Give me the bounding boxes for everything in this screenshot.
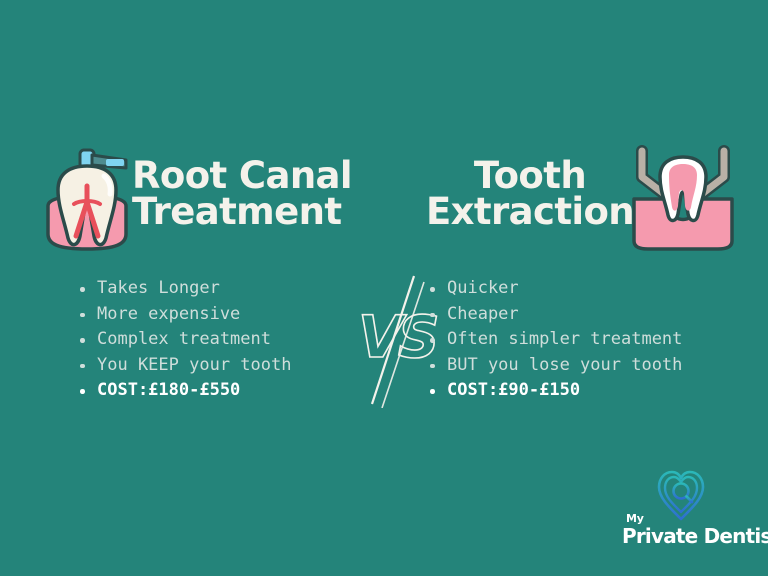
cost-item: COST:£180-£550 bbox=[78, 378, 291, 404]
tooth-extraction-title: Tooth Extraction bbox=[420, 158, 640, 230]
logo-brand-name: Private Dentist bbox=[622, 524, 768, 548]
list-item: More expensive bbox=[78, 302, 291, 328]
tooth-extraction-bullet-list: Quicker Cheaper Often simpler treatment … bbox=[428, 276, 682, 404]
root-canal-header: Root Canal Treatment bbox=[40, 140, 360, 260]
root-canal-bullet-list: Takes Longer More expensive Complex trea… bbox=[78, 276, 291, 404]
list-item: Often simpler treatment bbox=[428, 327, 682, 353]
comparison-infographic: Root Canal Treatment VS Tooth Extraction bbox=[0, 0, 768, 576]
list-item: Cheaper bbox=[428, 302, 682, 328]
vs-label: VS bbox=[358, 308, 435, 366]
headline-row: Root Canal Treatment VS Tooth Extraction bbox=[0, 140, 768, 260]
root-canal-tooth-icon bbox=[44, 146, 130, 256]
root-canal-title: Root Canal Treatment bbox=[132, 158, 352, 230]
list-item: You KEEP your tooth bbox=[78, 353, 291, 379]
list-item: Takes Longer bbox=[78, 276, 291, 302]
cost-item: COST:£90-£150 bbox=[428, 378, 682, 404]
list-item: Complex treatment bbox=[78, 327, 291, 353]
list-item: Quicker bbox=[428, 276, 682, 302]
list-item: BUT you lose your tooth bbox=[428, 353, 682, 379]
tooth-extraction-header: Tooth Extraction bbox=[420, 140, 750, 260]
tooth-magnifier-logo-icon bbox=[654, 468, 708, 522]
brand-logo: My Private Dentist bbox=[612, 468, 758, 552]
vs-divider: VS bbox=[352, 272, 438, 408]
tooth-extraction-forceps-icon bbox=[628, 145, 738, 255]
